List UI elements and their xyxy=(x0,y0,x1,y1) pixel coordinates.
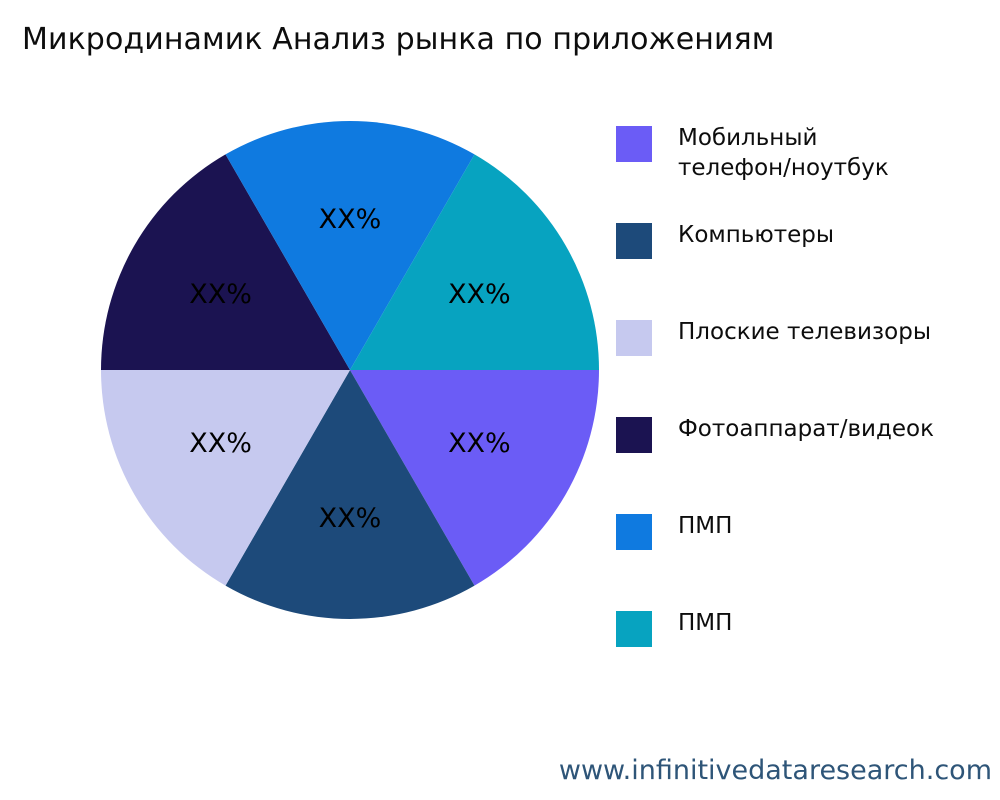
pie-slice-label-4: XX% xyxy=(319,204,382,235)
legend-swatch-3 xyxy=(616,417,652,453)
legend-label-1: Компьютеры xyxy=(678,220,834,250)
legend-swatch-1 xyxy=(616,223,652,259)
pie-slice-label-5: XX% xyxy=(448,279,511,310)
pie-slice-group xyxy=(101,121,599,619)
legend-swatch-4 xyxy=(616,514,652,550)
legend-item-4[interactable]: ПМП xyxy=(616,511,1000,555)
legend-item-3[interactable]: Фотоаппарат/видеок xyxy=(616,414,1000,458)
legend-swatch-0 xyxy=(616,126,652,162)
pie-chart-svg: XX%XX%XX%XX%XX%XX% xyxy=(100,120,600,620)
legend-item-1[interactable]: Компьютеры xyxy=(616,220,1000,264)
legend-label-3: Фотоаппарат/видеок xyxy=(678,414,934,444)
legend-label-2: Плоские телевизоры xyxy=(678,317,931,347)
pie-chart: XX%XX%XX%XX%XX%XX% xyxy=(100,120,600,620)
legend-item-5[interactable]: ПМП xyxy=(616,608,1000,652)
legend-swatch-5 xyxy=(616,611,652,647)
source-website-url[interactable]: www.infinitivedataresearch.com xyxy=(559,755,992,786)
legend-label-5: ПМП xyxy=(678,608,732,638)
pie-slice-label-1: XX% xyxy=(319,503,382,534)
pie-slice-label-3: XX% xyxy=(189,279,252,310)
legend-swatch-2 xyxy=(616,320,652,356)
page-title: Микродинамик Анализ рынка по приложениям xyxy=(22,20,774,60)
pie-slice-label-0: XX% xyxy=(448,428,511,459)
legend-label-4: ПМП xyxy=(678,511,732,541)
legend-label-0: Мобильный телефон/ноутбук xyxy=(678,123,889,183)
pie-slice-label-2: XX% xyxy=(189,428,252,459)
legend-item-0[interactable]: Мобильный телефон/ноутбук xyxy=(616,123,1000,167)
chart-legend: Мобильный телефон/ноутбук Компьютеры Пло… xyxy=(616,118,1000,658)
legend-item-2[interactable]: Плоские телевизоры xyxy=(616,317,1000,361)
